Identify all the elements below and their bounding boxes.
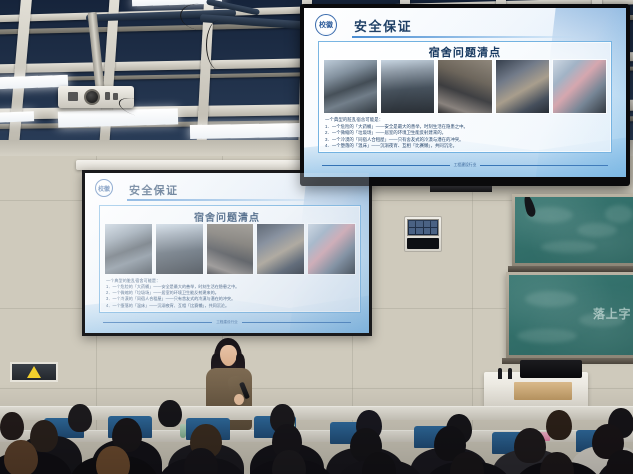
divider (103, 322, 212, 323)
wall-mounted-tv: 校徽 安全保证 宿舍问题清点 一个典型的脏乱宿舍可能是： 1．一个危险的「大药桶… (300, 4, 630, 186)
slide-on-tv: 校徽 安全保证 宿舍问题清点 一个典型的脏乱宿舍可能是： 1．一个危险的「大药桶… (304, 8, 626, 177)
slide-logo-icon: 校徽 (315, 14, 337, 36)
audience-head (158, 400, 182, 427)
control-panel-screen[interactable] (407, 219, 439, 236)
control-key[interactable] (409, 221, 415, 227)
control-panel-display (407, 238, 439, 249)
control-key[interactable] (416, 221, 422, 227)
slide-body-title: 宿舍问题清点 (304, 44, 626, 60)
lectern-front-panel (514, 382, 572, 400)
presenter-hand (234, 394, 244, 405)
list-item (437, 59, 492, 114)
av-control-panel[interactable] (404, 216, 442, 252)
warning-sign (10, 362, 58, 382)
control-key[interactable] (409, 228, 415, 234)
audience-head (546, 410, 572, 440)
slide-bullet-list: 一个典型的脏乱宿舍可能是： 1．一个危险的「大药桶」——安全是最大的善举，时刻生… (325, 117, 468, 150)
lectern-monitor (520, 360, 582, 378)
tv-display: 校徽 安全保证 宿舍问题清点 一个典型的脏乱宿舍可能是： 1．一个危险的「大药桶… (304, 8, 626, 177)
lectern (484, 372, 588, 408)
list-item (495, 59, 550, 114)
divider (480, 165, 608, 166)
control-key[interactable] (424, 228, 430, 234)
lecture-hall-scene: 校徽 安全保证 宿舍问题清点 一个典型的脏乱宿舍可能是： 1．一个危险的「大药桶… (0, 0, 633, 474)
list-item: 2．一个微缩的「垃圾场」——居室的环境卫生能反射建来的。 (325, 130, 468, 137)
list-item (323, 59, 378, 114)
slide-footer: 工程建设行业 (322, 163, 608, 168)
blackboard-surface (515, 197, 633, 263)
audience-head (0, 412, 24, 440)
projector-lens-icon (84, 89, 100, 105)
list-item (256, 223, 305, 275)
audience-head (68, 404, 92, 432)
dorm-photo-row (323, 59, 607, 114)
slide-projected: 校徽 安全保证 宿舍问题清点 一个典型的脏乱宿舍可能是： 1．一个危险的「大药桶… (85, 173, 369, 333)
slide-bullet-list: 一个典型的脏乱宿舍可能是： 1．一个危险的「大药桶」——安全是最大的善举，时刻生… (106, 278, 239, 309)
slide-body-title: 宿舍问题清点 (85, 209, 369, 224)
list-item (552, 59, 607, 114)
slide-header-title: 安全保证 (354, 16, 412, 35)
divider (242, 322, 351, 323)
list-item (155, 223, 204, 275)
slide-footer-text: 工程建设行业 (216, 320, 238, 325)
water-bottle (180, 424, 186, 438)
control-key[interactable] (431, 228, 437, 234)
slide-footer: 工程建设行业 (103, 320, 351, 325)
list-item: 4．一个堕落的「温床」——沉溺夜宵、互相「比赛懒」，共同沉沦。 (325, 143, 468, 150)
bullet-lead: 一个典型的脏乱宿舍可能是： (325, 117, 468, 124)
list-item: 3．一个冷漠的「同宿人合租屋」——只有舍友式的冷漠与潜在的冲突。 (106, 296, 239, 302)
chalkboard-text: 落上字 (593, 305, 631, 322)
blackboard-surface: 落上字 (509, 275, 633, 355)
audience-head (514, 428, 546, 463)
slide-footer-text: 工程建设行业 (454, 163, 477, 168)
list-item (104, 223, 153, 275)
list-item: 4．一个堕落的「温床」——沉溺夜宵、互相「比赛懒」，共同沉沦。 (106, 303, 239, 309)
warning-triangle-icon (27, 366, 41, 378)
divider (322, 165, 450, 166)
board-clip (522, 197, 537, 218)
lectern-mic (498, 368, 502, 379)
dorm-photo-row (104, 223, 356, 275)
control-key[interactable] (416, 228, 422, 234)
lectern-mic (508, 368, 512, 379)
slide-header-title: 安全保证 (129, 182, 178, 198)
blackboard-upper (512, 194, 633, 266)
list-item (380, 59, 435, 114)
projection-screen: 校徽 安全保证 宿舍问题清点 一个典型的脏乱宿舍可能是： 1．一个危险的「大药桶… (82, 170, 372, 336)
audience-head (4, 440, 38, 474)
control-key[interactable] (431, 221, 437, 227)
control-key[interactable] (424, 221, 430, 227)
list-item (307, 223, 356, 275)
slide-logo-icon: 校徽 (95, 179, 113, 197)
desk-row (0, 406, 633, 420)
tv-mount (430, 186, 492, 192)
blackboard-lower: 落上字 (506, 272, 633, 358)
list-item (206, 223, 255, 275)
